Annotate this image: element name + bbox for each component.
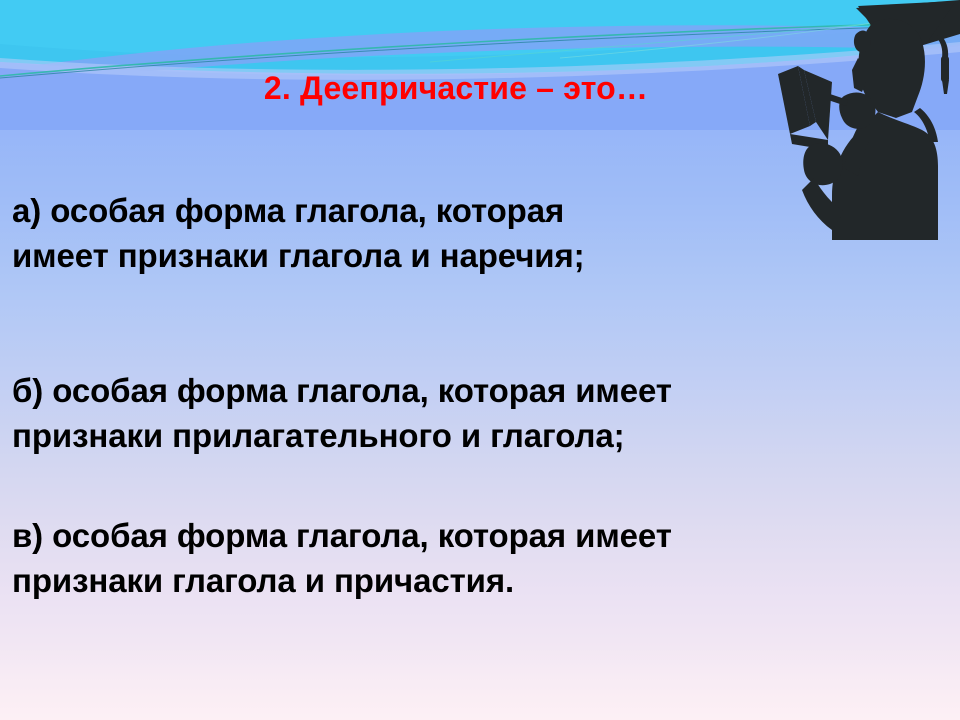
slide-canvas: 2. Деепричастие – это… а) особая форма г… [0,0,960,720]
top-wave-band [0,0,960,130]
option-b[interactable]: б) особая форма глагола, которая имеет п… [12,368,942,458]
option-c[interactable]: в) особая форма глагола, которая имеет п… [12,513,942,603]
page-title: 2. Деепричастие – это… [0,68,912,108]
option-a[interactable]: а) особая форма глагола, которая имеет п… [12,188,802,278]
